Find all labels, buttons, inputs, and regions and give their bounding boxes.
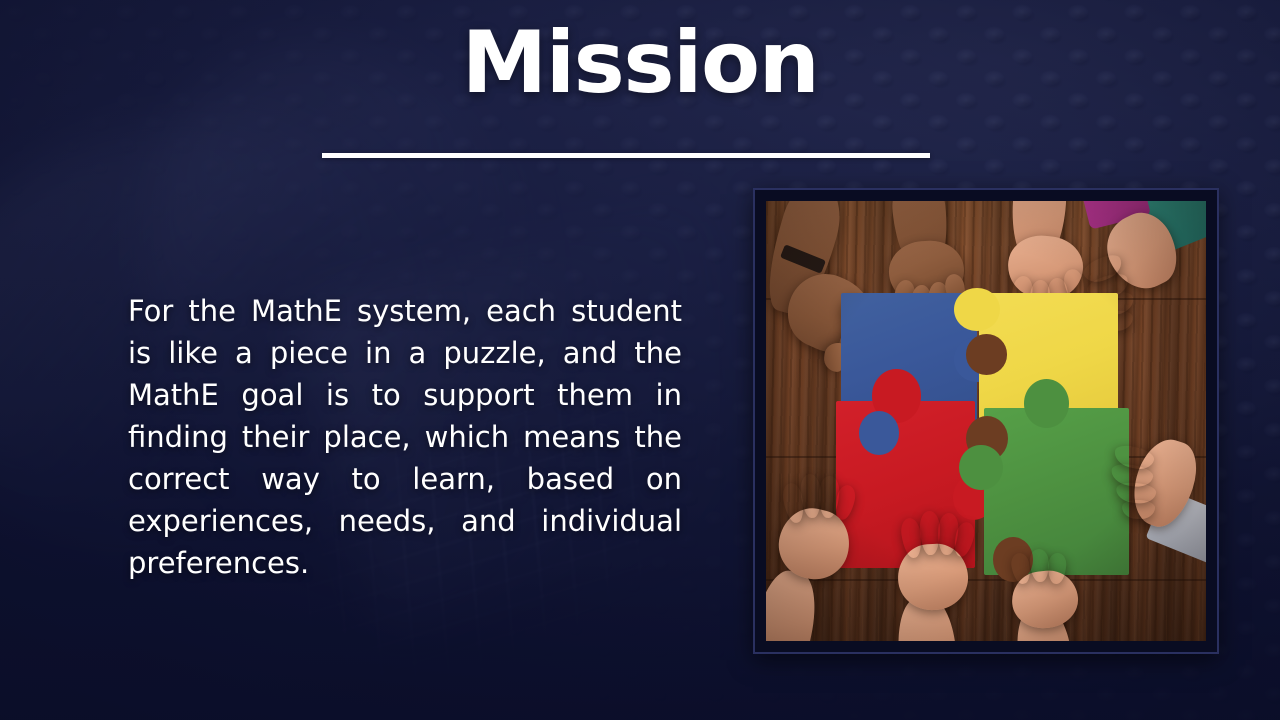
wood-plank-seam — [766, 579, 1206, 581]
presentation-slide: Mission For the MathE system, each stude… — [0, 0, 1280, 720]
slide-body-text: For the MathE system, each student is li… — [128, 290, 682, 584]
title-divider-rule — [322, 153, 930, 158]
puzzle-photo — [766, 201, 1206, 641]
green-puzzle-piece — [984, 408, 1129, 575]
puzzle-photo-frame — [753, 188, 1219, 654]
slide-title: Mission — [0, 18, 1280, 108]
